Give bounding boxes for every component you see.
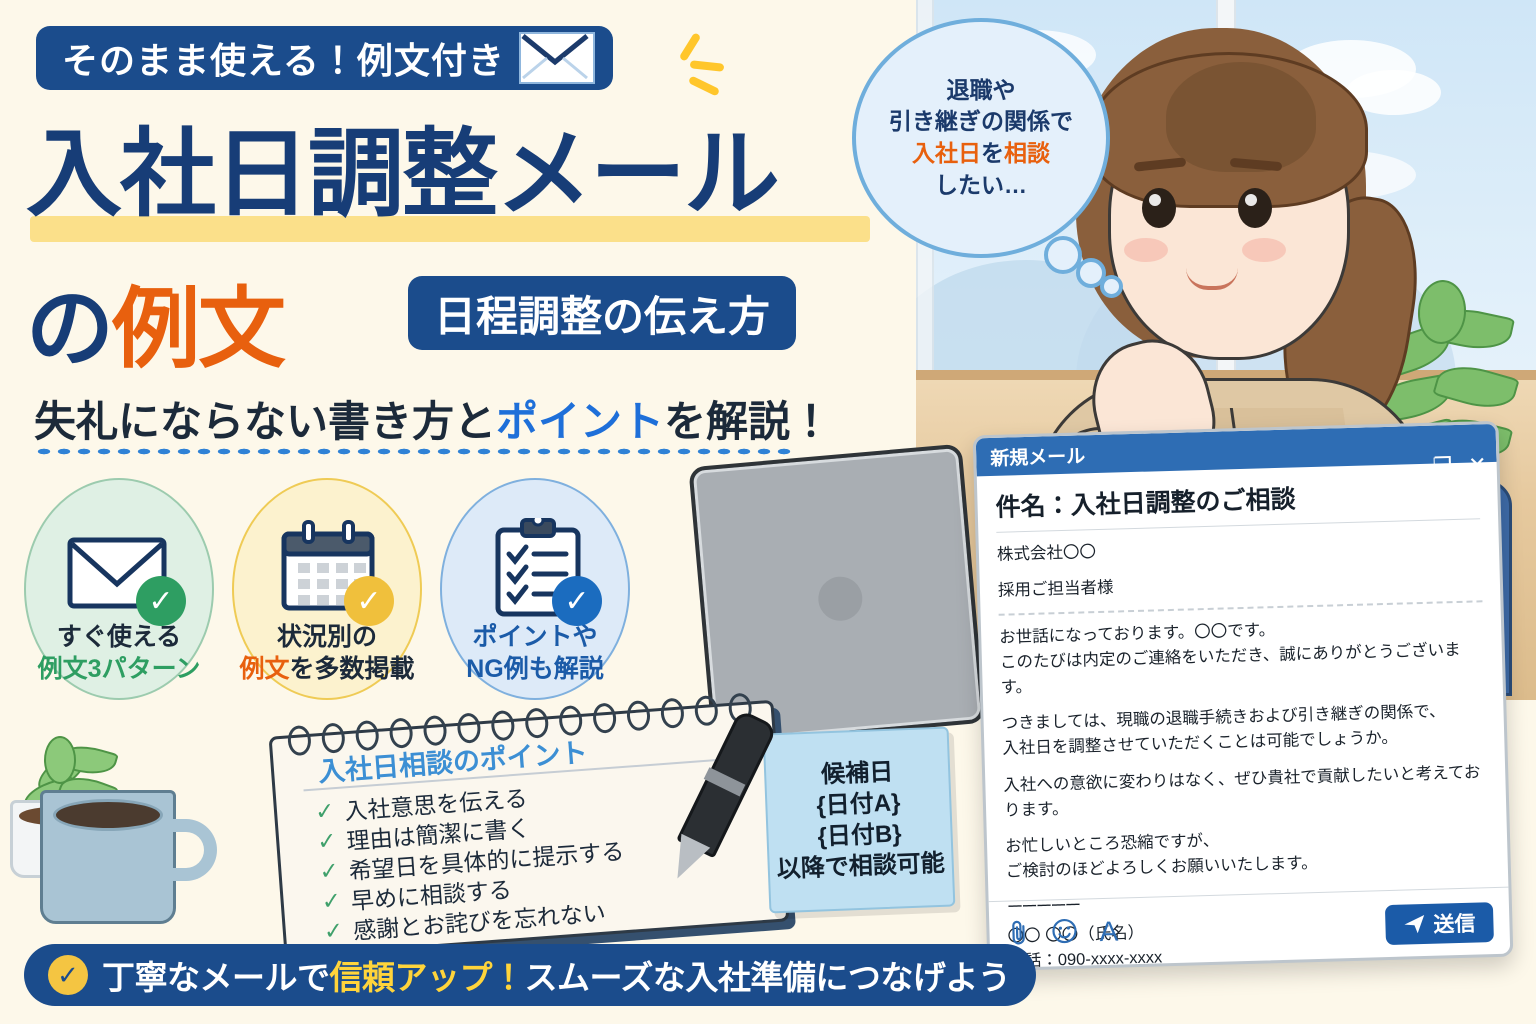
feature-3-line1: ポイントや: [472, 623, 597, 652]
feature-1-line1: すぐ使える: [57, 623, 181, 652]
font-icon[interactable]: A: [1099, 918, 1118, 947]
thought-bubble: 退職や 引き継ぎの関係で 入社日を相談 したい…: [852, 18, 1110, 258]
bubble-accent-1: 入社日: [912, 140, 981, 166]
sticky-line-3: {日付B}: [817, 818, 902, 852]
calendar-icon: ✓: [272, 518, 388, 618]
blush-right: [1242, 238, 1286, 262]
sticky-line-4: 以降で相談可能: [776, 848, 945, 886]
mail-window-title: 新規メール: [990, 441, 1086, 471]
feature-1-line2: 例文3パターン: [38, 654, 201, 684]
bubble-line-4: したい…: [935, 170, 1027, 202]
leaf: [44, 736, 76, 784]
feature-2-accent: 例文: [239, 655, 289, 683]
bottom-banner: ✓ 丁寧なメールで信頼アップ！スムーズな入社準備につなげよう: [24, 944, 1036, 1006]
laptop-logo: [817, 575, 865, 623]
mail-paragraph-1: お世話になっております。〇〇です。 このたびは内定のご連絡をいただき、誠にありが…: [999, 612, 1485, 701]
bubble-line-2: 引き継ぎの関係で: [889, 106, 1073, 138]
mail-toolbar[interactable]: A 送信: [989, 887, 1511, 968]
emoji-icon[interactable]: [1051, 918, 1078, 949]
feature-2-line1: 状況別の: [277, 623, 377, 652]
infographic-canvas: 退職や 引き継ぎの関係で 入社日を相談 したい… そのまま使える！例文付き 入社…: [0, 0, 1536, 1024]
check-icon: ✓: [321, 888, 342, 912]
banner-part-1: 丁寧なメールで: [102, 959, 330, 996]
eye-left: [1142, 188, 1176, 228]
bottom-banner-text: 丁寧なメールで信頼アップ！スムーズな入社準備につなげよう: [102, 951, 1010, 999]
subtitle-accent: ポイント: [496, 398, 664, 445]
banner-part-2: スムーズな入社準備につなげよう: [525, 959, 1011, 996]
title-prefix: の: [26, 279, 112, 378]
close-icon[interactable]: ✕: [1468, 454, 1487, 477]
coffee-surface: [53, 799, 163, 831]
title-sub-badge: 日程調整の伝え方: [408, 276, 796, 350]
clipboard-checklist-icon: ✓: [480, 518, 596, 618]
bubble-accent-2: 相談: [1004, 140, 1050, 166]
send-plane-icon: [1403, 914, 1426, 935]
thought-bubble-dot: [1100, 275, 1123, 298]
check-icon: ✓: [48, 955, 88, 995]
header-badge: そのまま使える！例文付き: [36, 26, 613, 90]
feature-card-3: ✓ ポイントや NG例も解説: [440, 478, 630, 700]
recipient-line-1: 株式会社〇〇: [997, 529, 1482, 568]
coffee-mug: [40, 790, 176, 924]
send-button-label: 送信: [1433, 908, 1476, 939]
feature-2-rest: を多数掲載: [290, 655, 415, 683]
envelope-fold: [521, 34, 589, 80]
envelope-icon: ✓: [64, 518, 180, 618]
mail-paragraph-3: 入社への意欲に変わりはなく、ぜひ貴社で貢献したいと考えております。: [1003, 760, 1488, 824]
blush-left: [1124, 238, 1168, 262]
recipient-line-2: 採用ご担当者様: [998, 565, 1483, 604]
subtitle-part-b: を解説！: [664, 398, 832, 445]
sparkle-line: [690, 60, 725, 72]
minimize-icon[interactable]: –: [1404, 456, 1417, 478]
bubble-line-1: 退職や: [947, 75, 1016, 107]
feature-card-2: ✓ 状況別の 例文を多数掲載: [232, 478, 422, 700]
hair-fringe-inner: [1166, 62, 1316, 172]
check-icon: ✓: [317, 829, 338, 853]
send-button[interactable]: 送信: [1385, 902, 1494, 945]
title-accent: 例文: [112, 279, 284, 378]
mug-handle: [167, 819, 217, 881]
sticky-line-2: {日付A}: [816, 787, 901, 821]
subtitle-part-a: 失礼にならない書き方と: [34, 398, 496, 445]
feature-card-1: ✓ すぐ使える 例文3パターン: [24, 478, 214, 700]
header-badge-label: そのまま使える！例文付き: [62, 32, 505, 84]
check-icon: ✓: [323, 918, 344, 942]
sparkle-line: [679, 32, 702, 62]
feature-2-line2: 例文を多数掲載: [239, 654, 414, 684]
banner-accent: 信頼アップ！: [330, 959, 525, 996]
title-sub-badge-label: 日程調整の伝え方: [434, 283, 770, 344]
check-icon: ✓: [314, 799, 335, 823]
feature-3-line2: NG例も解説: [466, 654, 604, 684]
page-title-line2: の例文: [26, 258, 284, 385]
mail-paragraph-2: つきましては、現職の退職手続きおよび引き継ぎの関係で、 入社日を調整させていただ…: [1001, 699, 1486, 763]
envelope-icon: [519, 32, 595, 84]
page-title-line1: 入社日調整メール: [26, 96, 778, 235]
page-subtitle: 失礼にならない書き方とポイントを解説！: [34, 388, 832, 449]
mail-compose-window[interactable]: 新規メール – ❐ ✕ 件名：入社日調整のご相談 株式会社〇〇 採用ご担当者様 …: [973, 421, 1514, 971]
eye-right: [1238, 188, 1272, 228]
check-badge: ✓: [136, 576, 186, 626]
sticky-line-1: 候補日: [821, 756, 894, 790]
mail-paragraph-4: お忙しいところ恐縮ですが、 ご検討のほどよろしくお願いいたします。: [1005, 821, 1490, 885]
maximize-icon[interactable]: ❐: [1432, 455, 1452, 478]
sparkle-line: [688, 75, 720, 96]
bubble-mid: を: [981, 140, 1004, 166]
check-badge: ✓: [552, 576, 602, 626]
check-badge: ✓: [344, 576, 394, 626]
bubble-line-3: 入社日を相談: [912, 138, 1050, 170]
window-controls[interactable]: – ❐ ✕: [1404, 454, 1487, 478]
check-icon: ✓: [319, 859, 340, 883]
